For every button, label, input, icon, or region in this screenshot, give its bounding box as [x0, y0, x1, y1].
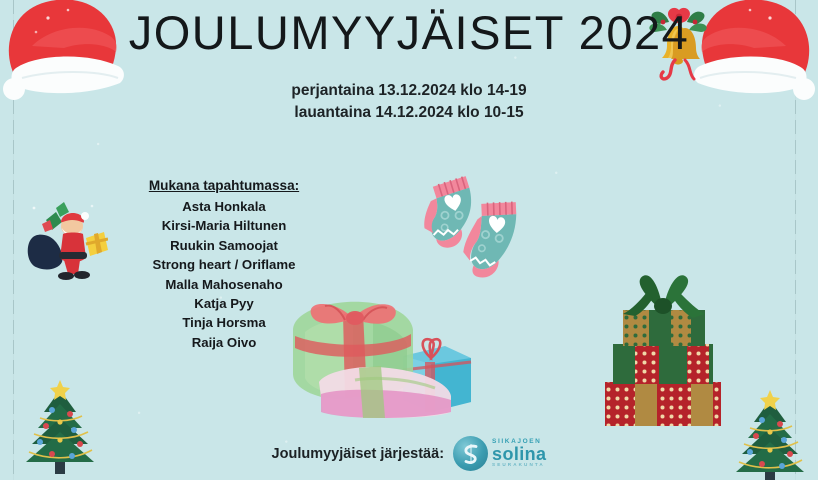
event-date-line-1: perjantaina 13.12.2024 klo 14-19	[0, 80, 818, 102]
solina-logo-wordmark: SIIKAJOEN solina SEURAKUNTA	[492, 439, 546, 467]
participant-name: Strong heart / Oriflame	[118, 255, 330, 274]
participants-heading: Mukana tapahtumassa:	[118, 176, 330, 196]
event-dates: perjantaina 13.12.2024 klo 14-19 lauanta…	[0, 80, 818, 125]
christmas-market-poster: JOULUMYYJÄISET 2024 perjantaina 13.12.20…	[0, 0, 818, 480]
watercolor-gifts-icon	[285, 286, 475, 420]
organizer-label: Joulumyyjäiset järjestää:	[272, 446, 444, 462]
solina-logo: SIIKAJOEN solina SEURAKUNTA	[453, 436, 546, 471]
santa-with-gift-icon	[22, 196, 108, 282]
poster-title: JOULUMYYJÄISET 2024	[0, 8, 818, 57]
participant-name: Ruukin Samoojat	[118, 236, 330, 255]
christmas-socks-icon	[408, 158, 534, 294]
stacked-gift-boxes-icon	[595, 268, 731, 428]
participant-name: Asta Honkala	[118, 197, 330, 216]
event-date-line-2: lauantaina 14.12.2024 klo 10-15	[0, 102, 818, 124]
participant-name: Kirsi-Maria Hiltunen	[118, 216, 330, 235]
footer: Joulumyyjäiset järjestää: SIIKAJOEN soli…	[0, 436, 818, 471]
logo-sub-text: SEURAKUNTA	[492, 463, 546, 468]
solina-logo-mark-icon	[453, 436, 488, 471]
logo-main-text: solina	[492, 446, 546, 463]
